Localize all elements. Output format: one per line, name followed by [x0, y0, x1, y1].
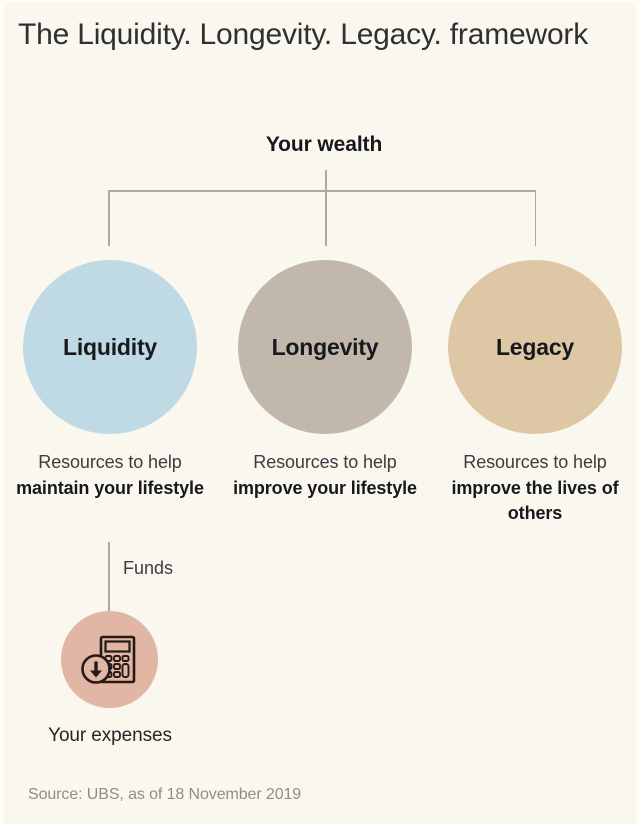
pillar-desc-emph-longevity: improve your lifestyle [233, 478, 417, 498]
connector-root-stub [325, 170, 327, 191]
infographic-root: The Liquidity. Longevity. Legacy. framew… [0, 0, 640, 824]
connector-drop-funds [108, 542, 110, 614]
bubble-longevity: Longevity [238, 260, 412, 434]
pillar-legacy: Legacy Resources to help improve the liv… [429, 260, 640, 527]
root-node-label: Your wealth [4, 133, 640, 157]
connector-drop-liquidity [108, 190, 110, 246]
pillar-description-longevity: Resources to help improve your lifestyle [219, 450, 431, 501]
bubble-label-liquidity: Liquidity [63, 334, 157, 361]
page-title: The Liquidity. Longevity. Legacy. framew… [18, 14, 618, 55]
pillar-desc-lead-longevity: Resources to help [253, 452, 396, 472]
connector-drop-longevity [325, 190, 327, 246]
calculator-download-icon [79, 629, 141, 691]
pillar-desc-emph-legacy: improve the lives of others [451, 478, 618, 524]
bubble-legacy: Legacy [448, 260, 622, 434]
pillar-desc-lead-legacy: Resources to help [463, 452, 606, 472]
pillar-description-liquidity: Resources to help maintain your lifestyl… [4, 450, 216, 501]
source-note: Source: UBS, as of 18 November 2019 [28, 786, 301, 804]
connector-horizontal-bar [108, 190, 536, 192]
pillar-description-legacy: Resources to help improve the lives of o… [429, 450, 640, 527]
bubble-label-longevity: Longevity [272, 334, 379, 361]
pillar-longevity: Longevity Resources to help improve your… [219, 260, 431, 501]
expense-node-label: Your expenses [4, 725, 216, 747]
bubble-liquidity: Liquidity [23, 260, 197, 434]
pillar-desc-emph-liquidity: maintain your lifestyle [16, 478, 204, 498]
edge-label-funds: Funds [123, 558, 173, 579]
pillar-liquidity: Liquidity Resources to help maintain you… [4, 260, 216, 501]
connector-drop-legacy [535, 190, 537, 246]
pillar-desc-lead-liquidity: Resources to help [38, 452, 181, 472]
expense-node-bubble [61, 611, 158, 708]
bubble-label-legacy: Legacy [496, 334, 574, 361]
